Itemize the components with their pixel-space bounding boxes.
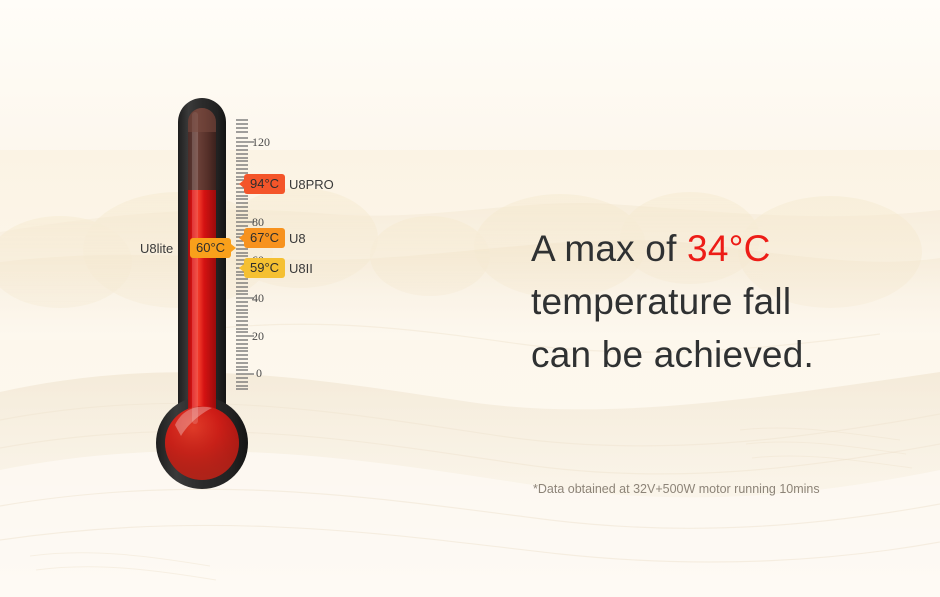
callout-value-u8: 67°C (250, 230, 279, 245)
callout-tail-u8ii (239, 264, 244, 272)
callout-label-u8: U8 (289, 231, 306, 246)
headline: A max of 34°C temperature fall can be ac… (531, 222, 814, 381)
callout-label-u8lite: U8lite (140, 241, 173, 256)
tick-label-120: 120 (252, 135, 270, 150)
callout-tail-u8 (239, 234, 244, 242)
callout-badge-u8ii[interactable]: 59°C (244, 258, 285, 278)
footnote: *Data obtained at 32V+500W motor running… (533, 482, 820, 496)
thermometer-bulb (165, 406, 239, 480)
thermometer-gloss-highlight (192, 112, 198, 424)
tick-label-0: 0 (256, 366, 262, 381)
callout-badge-u8pro[interactable]: 94°C (244, 174, 285, 194)
callout-tail-u8lite (231, 244, 236, 252)
callout-badge-u8lite[interactable]: 60°C (190, 238, 231, 258)
callout-value-u8lite: 60°C (196, 240, 225, 255)
callout-value-u8ii: 59°C (250, 260, 279, 275)
headline-line-1-prefix: A max of (531, 228, 687, 269)
callout-tail-u8pro (239, 180, 244, 188)
headline-line-1: A max of 34°C (531, 222, 814, 275)
headline-line-3: can be achieved. (531, 328, 814, 381)
tick-label-40: 40 (252, 291, 264, 306)
callout-value-u8pro: 94°C (250, 176, 279, 191)
headline-temp-value: 34°C (687, 228, 770, 269)
callout-badge-u8[interactable]: 67°C (244, 228, 285, 248)
headline-line-2: temperature fall (531, 275, 814, 328)
callout-label-u8ii: U8II (289, 261, 313, 276)
callout-label-u8pro: U8PRO (289, 177, 334, 192)
tick-label-20: 20 (252, 329, 264, 344)
